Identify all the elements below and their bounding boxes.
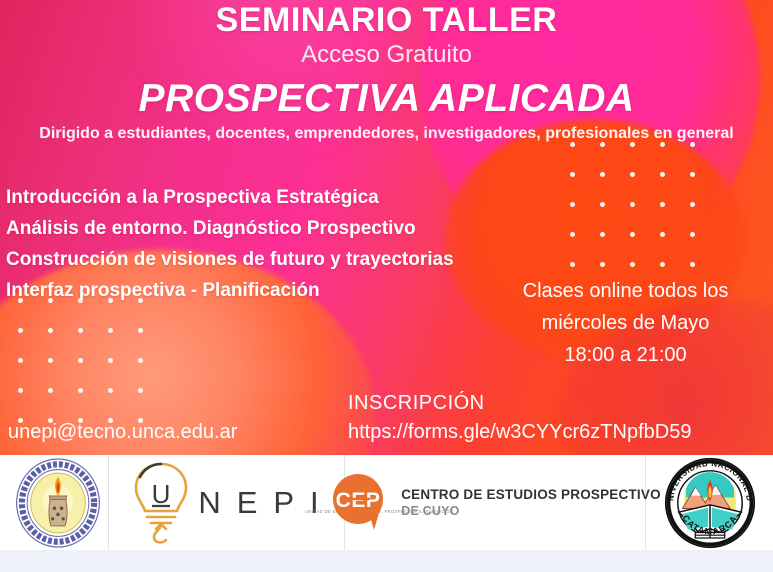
topic-item: Análisis de entorno. Diagnóstico Prospec… [6,213,454,244]
faculty-seal-icon [14,457,102,549]
lightbulb-icon: U [128,459,194,547]
svg-text:CEP: CEP [336,489,381,512]
unca-seal-icon: UNIVERSIDAD NACIONAL DE CATAMARCA [664,457,756,549]
poster-title: PROSPECTIVA APLICADA [0,77,773,121]
logo-bar: U NEPI UNIDAD DE EMPRENDEDURISMO, PROSPE… [0,455,773,550]
schedule-line: 18:00 a 21:00 [478,339,773,371]
unepi-logo-cell: U NEPI UNIDAD DE EMPRENDEDURISMO, PROSPE… [109,455,344,550]
topic-item: Construcción de visiones de futuro y tra… [6,244,454,275]
footer-strip [0,550,773,572]
svg-text:U: U [152,479,171,509]
cep-text-block: CENTRO DE ESTUDIOS PROSPECTIVO DE CUYO [401,487,661,518]
cep-logo: CEP CENTRO DE ESTUDIOS PROSPECTIVO DE CU… [329,472,661,534]
faculty-seal-cell [0,455,108,550]
registration-label: INSCRIPCIÓN [348,392,485,415]
cep-title-line2: DE CUYO [401,504,661,518]
topic-item: Interfaz prospectiva - Planificación [6,275,454,306]
poster-canvas: SEMINARIO TALLER Acceso Gratuito PROSPEC… [0,0,773,572]
registration-url[interactable]: https://forms.gle/w3CYYcr6zTNpfbD59 [348,421,691,444]
target-audience-text: Dirigido a estudiantes, docentes, empren… [0,125,773,143]
seminar-heading: SEMINARIO TALLER [0,1,773,40]
schedule-block: Clases online todos los miércoles de May… [478,275,773,371]
contact-email[interactable]: unepi@tecno.unca.edu.ar [8,421,237,444]
schedule-line: miércoles de Mayo [478,307,773,339]
cep-logo-cell: CEP CENTRO DE ESTUDIOS PROSPECTIVO DE CU… [345,455,645,550]
topic-item: Introducción a la Prospectiva Estratégic… [6,182,454,213]
free-access-subheading: Acceso Gratuito [0,41,773,69]
schedule-line: Clases online todos los [478,275,773,307]
unca-seal-cell: UNIVERSIDAD NACIONAL DE CATAMARCA [646,455,773,550]
unepi-wordmark: NEPI [198,485,334,521]
unepi-logo: U NEPI [128,459,334,547]
dot-grid-right [570,142,720,292]
cep-speech-bubble-icon: CEP [329,472,391,534]
topic-list: Introducción a la Prospectiva Estratégic… [6,182,454,306]
cep-title-line1: CENTRO DE ESTUDIOS PROSPECTIVO [401,487,661,502]
